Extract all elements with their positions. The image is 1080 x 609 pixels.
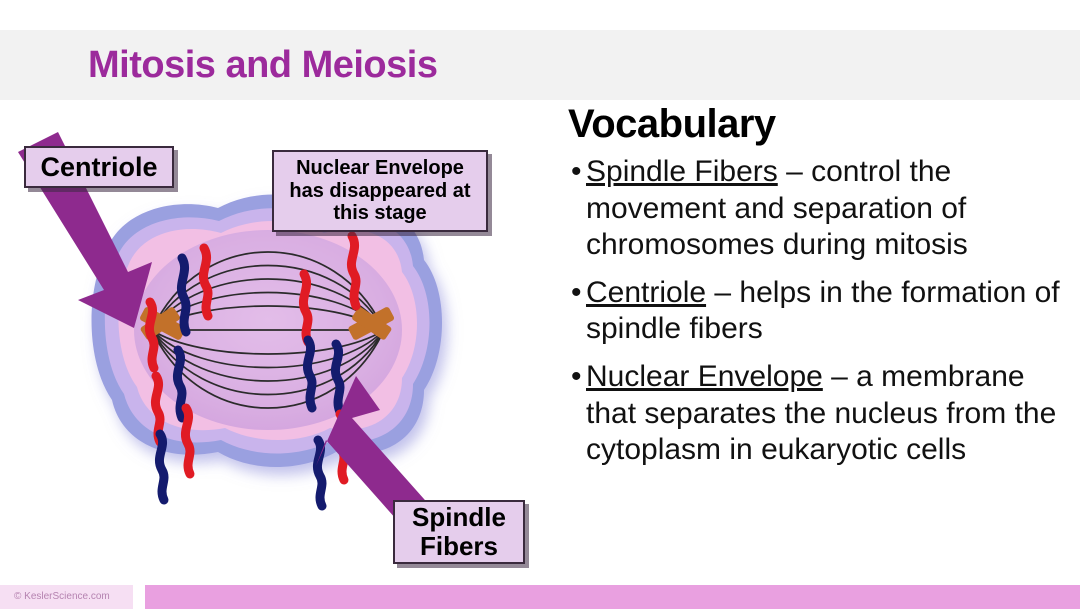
callout-spindle-fibers: Spindle Fibers	[393, 500, 525, 564]
vocabulary-item-centriole: •Centriole – helps in the formation of s…	[568, 275, 1068, 348]
callout-sf-line-2: Fibers	[420, 531, 498, 561]
vocabulary-item-spindle-fibers: •Spindle Fibers – control the movement a…	[568, 154, 1068, 264]
footer-accent-bar	[145, 585, 1080, 609]
vocabulary-term-spindle-fibers: Spindle Fibers	[586, 155, 778, 188]
callout-ne-line-3: this stage	[333, 202, 426, 224]
callout-ne-line-1: Nuclear Envelope	[296, 157, 464, 179]
page-title: Mitosis and Meiosis	[88, 44, 437, 87]
bullet-glyph-2: •	[571, 275, 582, 312]
bullet-glyph-1: •	[571, 154, 582, 191]
slide-root: Mitosis and Meiosis	[0, 0, 1080, 609]
footer-credit: © KeslerScience.com	[14, 591, 110, 602]
footer-bar: © KeslerScience.com	[0, 580, 1080, 609]
vocabulary-heading: Vocabulary	[568, 104, 1068, 144]
vocabulary-panel: Vocabulary •Spindle Fibers – control the…	[568, 104, 1068, 574]
callout-centriole: Centriole	[24, 146, 174, 188]
bullet-glyph-3: •	[571, 359, 582, 396]
vocabulary-item-nuclear-envelope: •Nuclear Envelope – a membrane that sepa…	[568, 359, 1068, 469]
vocabulary-term-centriole: Centriole	[586, 276, 706, 309]
callout-nuclear-envelope: Nuclear Envelope has disappeared at this…	[272, 150, 488, 232]
callout-sf-line-1: Spindle	[412, 502, 506, 532]
vocabulary-term-nuclear-envelope: Nuclear Envelope	[586, 360, 823, 393]
callout-ne-line-2: has disappeared at	[289, 180, 470, 202]
